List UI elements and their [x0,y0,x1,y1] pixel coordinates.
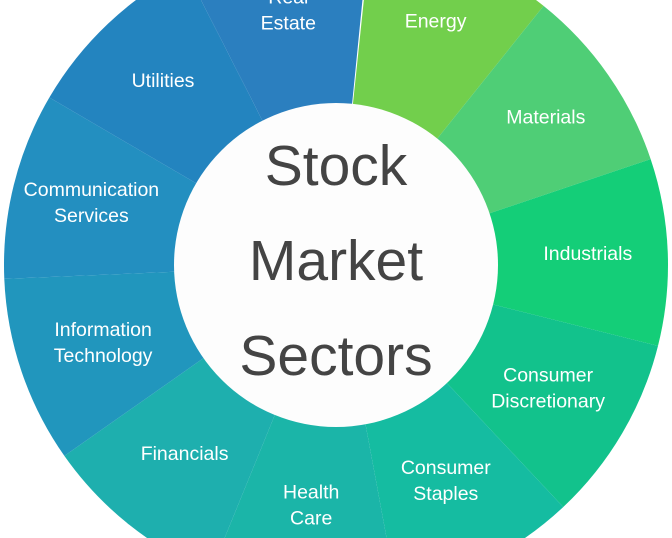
chart-title-line: Sectors [239,324,432,388]
center-title: StockMarketSectors [239,134,432,388]
chart-title-line: Stock [265,134,408,198]
chart-title: StockMarketSectors [239,134,432,388]
stock-market-sectors-figure: EnergyMaterialsIndustrialsConsumerDiscre… [0,0,672,538]
chart-title-line: Market [249,229,423,293]
donut-chart: EnergyMaterialsIndustrialsConsumerDiscre… [0,0,672,538]
